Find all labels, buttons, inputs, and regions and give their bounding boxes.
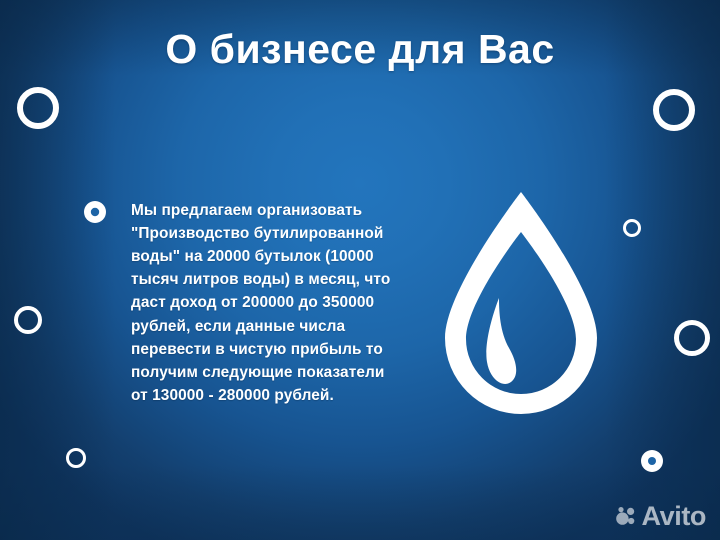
avito-watermark: Avito — [614, 503, 707, 530]
avito-logo-icon — [614, 505, 638, 529]
donut-bottom-right-icon — [641, 450, 663, 472]
slide-title: О бизнесе для Вас — [0, 27, 720, 73]
ring-right-lower-icon — [674, 320, 710, 356]
slide-canvas: О бизнесе для Вас Мы предлагаем организо… — [0, 0, 720, 540]
ring-top-left-icon — [17, 87, 59, 129]
ring-bottom-left-icon — [66, 448, 86, 468]
ring-mid-right-icon — [623, 219, 641, 237]
avito-wordmark: Avito — [642, 503, 707, 530]
body-paragraph-block: Мы предлагаем организовать "Производство… — [131, 199, 399, 407]
donut-bottom-right-hole — [648, 457, 656, 465]
donut-bullet-icon — [84, 201, 106, 223]
ring-mid-left-icon — [14, 306, 42, 334]
ring-top-right-icon — [653, 89, 695, 131]
body-paragraph: Мы предлагаем организовать "Производство… — [131, 199, 399, 407]
water-drop-icon — [437, 186, 605, 426]
